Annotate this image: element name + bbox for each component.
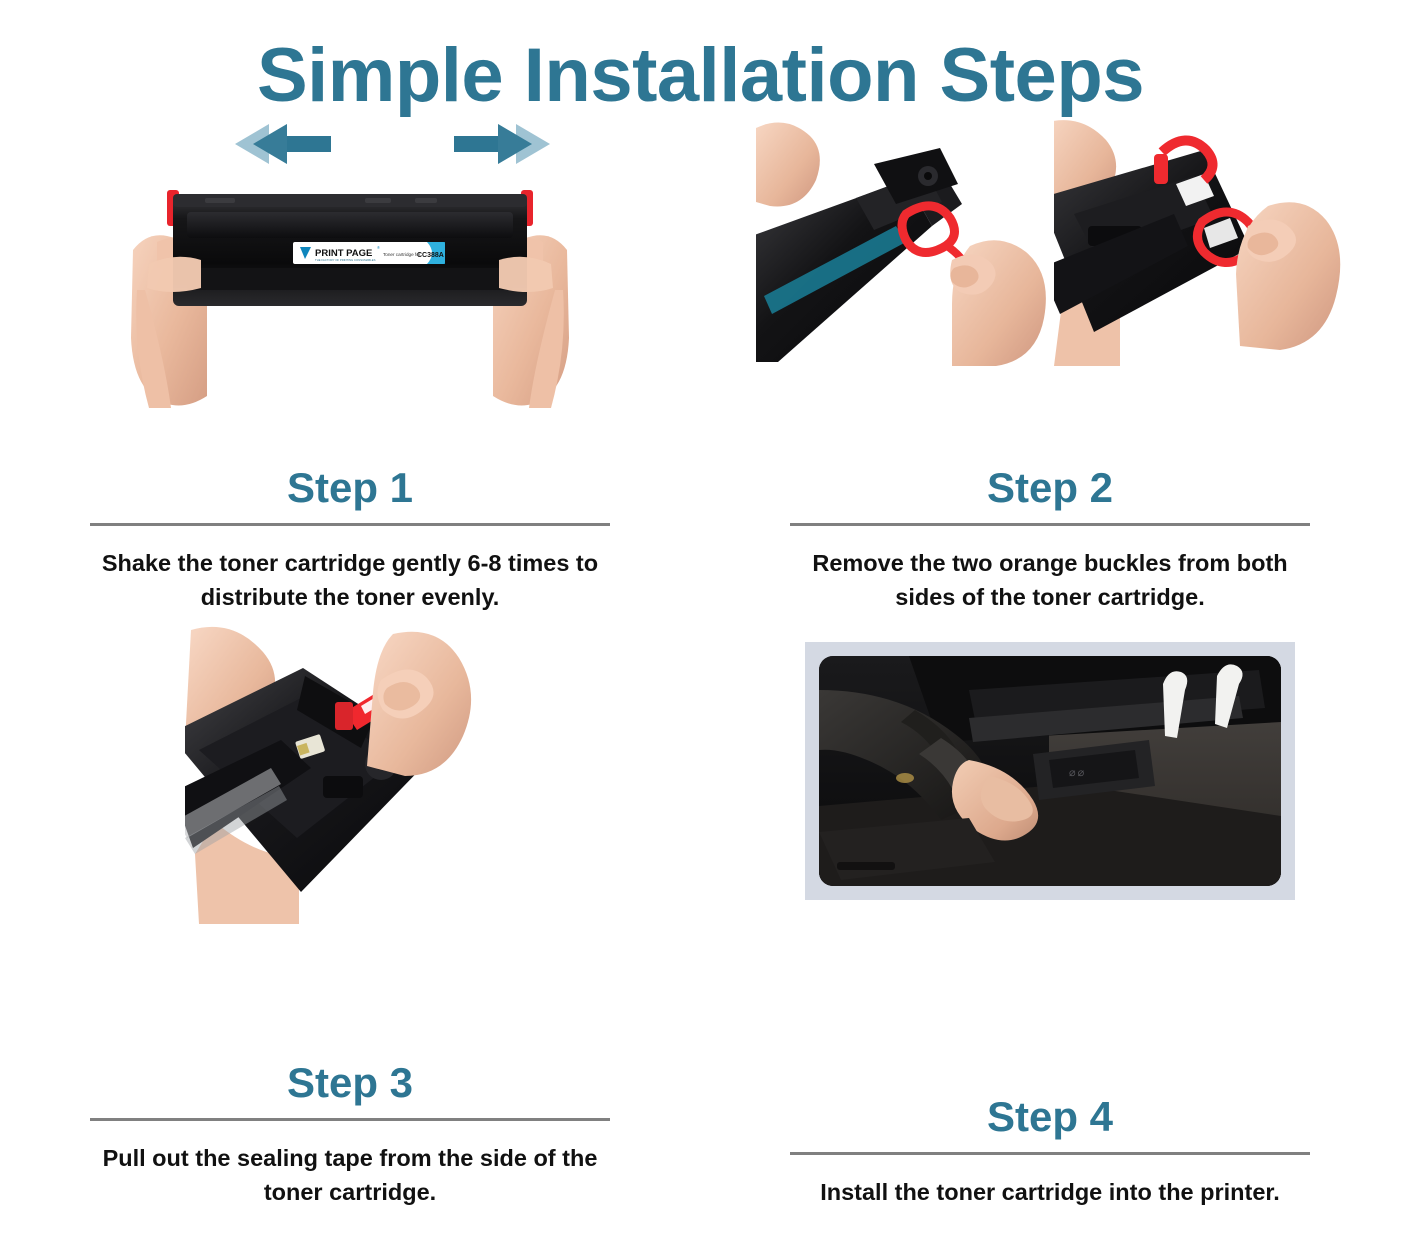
step-3-photo — [185, 624, 515, 924]
step-card-2: Step 2 Remove the two orange buckles fro… — [700, 114, 1400, 614]
step-2-photo-pair — [756, 118, 1344, 366]
step-1-heading: Step 1 — [287, 467, 413, 509]
step-card-4: ⌀⌀ — [700, 614, 1400, 1209]
svg-text:®: ® — [377, 245, 380, 250]
svg-text:Toner cartridge for: Toner cartridge for — [383, 252, 421, 257]
step-1-photo: PRINT PAGE ® THE FACTORY OF PRINTING CON… — [115, 172, 585, 422]
install-into-printer-illustration: ⌀⌀ — [819, 656, 1281, 886]
svg-text:THE FACTORY OF PRINTING CONSUM: THE FACTORY OF PRINTING CONSUMABLES — [315, 258, 376, 262]
steps-grid: PRINT PAGE ® THE FACTORY OF PRINTING CON… — [0, 114, 1400, 1209]
step-card-1: PRINT PAGE ® THE FACTORY OF PRINTING CON… — [0, 114, 700, 614]
step-3-heading: Step 3 — [287, 1062, 413, 1104]
step-2-photo-left — [756, 118, 1046, 366]
cartridge-label: PRINT PAGE ® THE FACTORY OF PRINTING CON… — [293, 242, 445, 264]
step-1-divider — [90, 523, 610, 526]
arrow-left-icon — [225, 120, 335, 168]
step-2-media — [700, 114, 1400, 467]
remove-buckle-right-illustration — [1054, 118, 1344, 366]
step-1-media: PRINT PAGE ® THE FACTORY OF PRINTING CON… — [0, 114, 700, 467]
svg-text:⌀⌀: ⌀⌀ — [1069, 767, 1086, 779]
svg-text:CC388A: CC388A — [417, 252, 444, 259]
shake-arrows — [0, 114, 700, 174]
step-2-photo-right — [1054, 118, 1344, 366]
step-4-media: ⌀⌀ — [700, 614, 1400, 1096]
step-card-3: Step 3 Pull out the sealing tape from th… — [0, 614, 700, 1209]
step-1-description: Shake the toner cartridge gently 6-8 tim… — [90, 546, 610, 614]
page-title: Simple Installation Steps — [0, 0, 1401, 114]
step-2-heading: Step 2 — [987, 467, 1113, 509]
cartridge-in-hands-illustration: PRINT PAGE ® THE FACTORY OF PRINTING CON… — [115, 172, 585, 422]
step-4-heading: Step 4 — [987, 1096, 1113, 1138]
pull-sealing-tape-illustration — [185, 624, 515, 924]
step-4-description: Install the toner cartridge into the pri… — [790, 1175, 1310, 1209]
step-3-divider — [90, 1118, 610, 1121]
step-4-divider — [790, 1152, 1310, 1155]
step-2-description: Remove the two orange buckles from both … — [790, 546, 1310, 614]
step-3-media — [0, 614, 700, 1062]
step-4-photo-inner: ⌀⌀ — [819, 656, 1281, 886]
step-4-photo: ⌀⌀ — [805, 642, 1295, 900]
step-2-divider — [790, 523, 1310, 526]
remove-buckle-left-illustration — [756, 118, 1046, 366]
arrow-right-icon — [450, 120, 560, 168]
step-3-description: Pull out the sealing tape from the side … — [90, 1141, 610, 1209]
